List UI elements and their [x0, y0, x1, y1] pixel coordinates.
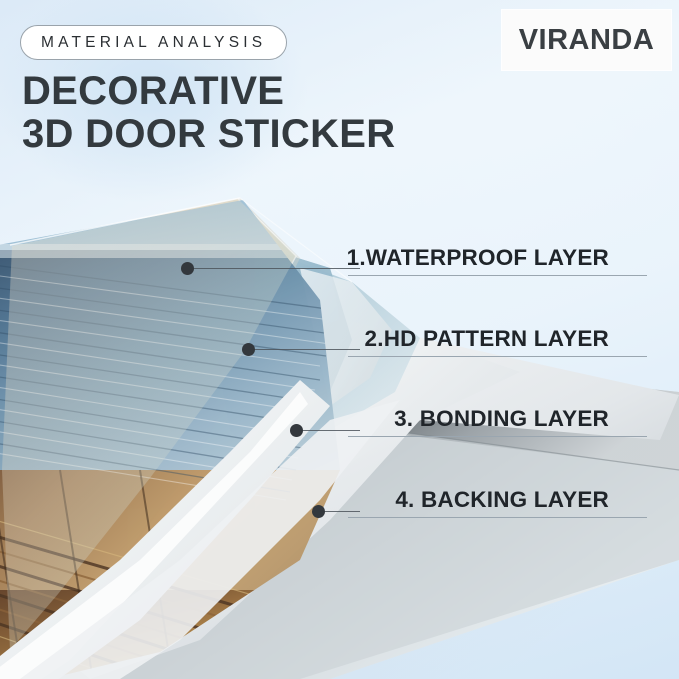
page-title-line1: DECORATIVE	[22, 69, 284, 113]
callout-bonding: 3. BONDING LAYER	[352, 393, 647, 439]
leader-line-waterproof	[190, 268, 360, 269]
callout-backing: 4. BACKING LAYER	[352, 474, 647, 520]
callout-label-hd-pattern: 2.HD PATTERN LAYER	[365, 326, 609, 352]
leader-line-bonding	[299, 430, 360, 431]
callout-label-waterproof: 1.WATERPROOF LAYER	[347, 245, 609, 271]
callout-dot-hd-pattern	[242, 343, 255, 356]
brand-logo-text: VIRANDA	[519, 24, 655, 57]
callout-underline-backing	[348, 517, 647, 518]
callout-underline-bonding	[348, 436, 647, 437]
callout-label-backing: 4. BACKING LAYER	[395, 487, 609, 513]
brand-logo-box: VIRANDA	[502, 10, 671, 70]
callout-dot-bonding	[290, 424, 303, 437]
page-title-line2: 3D DOOR STICKER	[22, 113, 395, 156]
callout-hd-pattern: 2.HD PATTERN LAYER	[352, 313, 647, 359]
callout-waterproof: 1.WATERPROOF LAYER	[352, 232, 647, 278]
material-analysis-badge: MATERIAL ANALYSIS	[20, 25, 287, 60]
callout-dot-backing	[312, 505, 325, 518]
leader-line-hd-pattern	[251, 349, 360, 350]
callout-label-bonding: 3. BONDING LAYER	[394, 406, 609, 432]
callout-underline-hd-pattern	[348, 356, 647, 357]
callout-dot-waterproof	[181, 262, 194, 275]
infographic-canvas: MATERIAL ANALYSIS DECORATIVE 3D DOOR STI…	[0, 0, 679, 679]
callout-underline-waterproof	[348, 275, 647, 276]
page-title: DECORATIVE 3D DOOR STICKER	[22, 70, 395, 156]
